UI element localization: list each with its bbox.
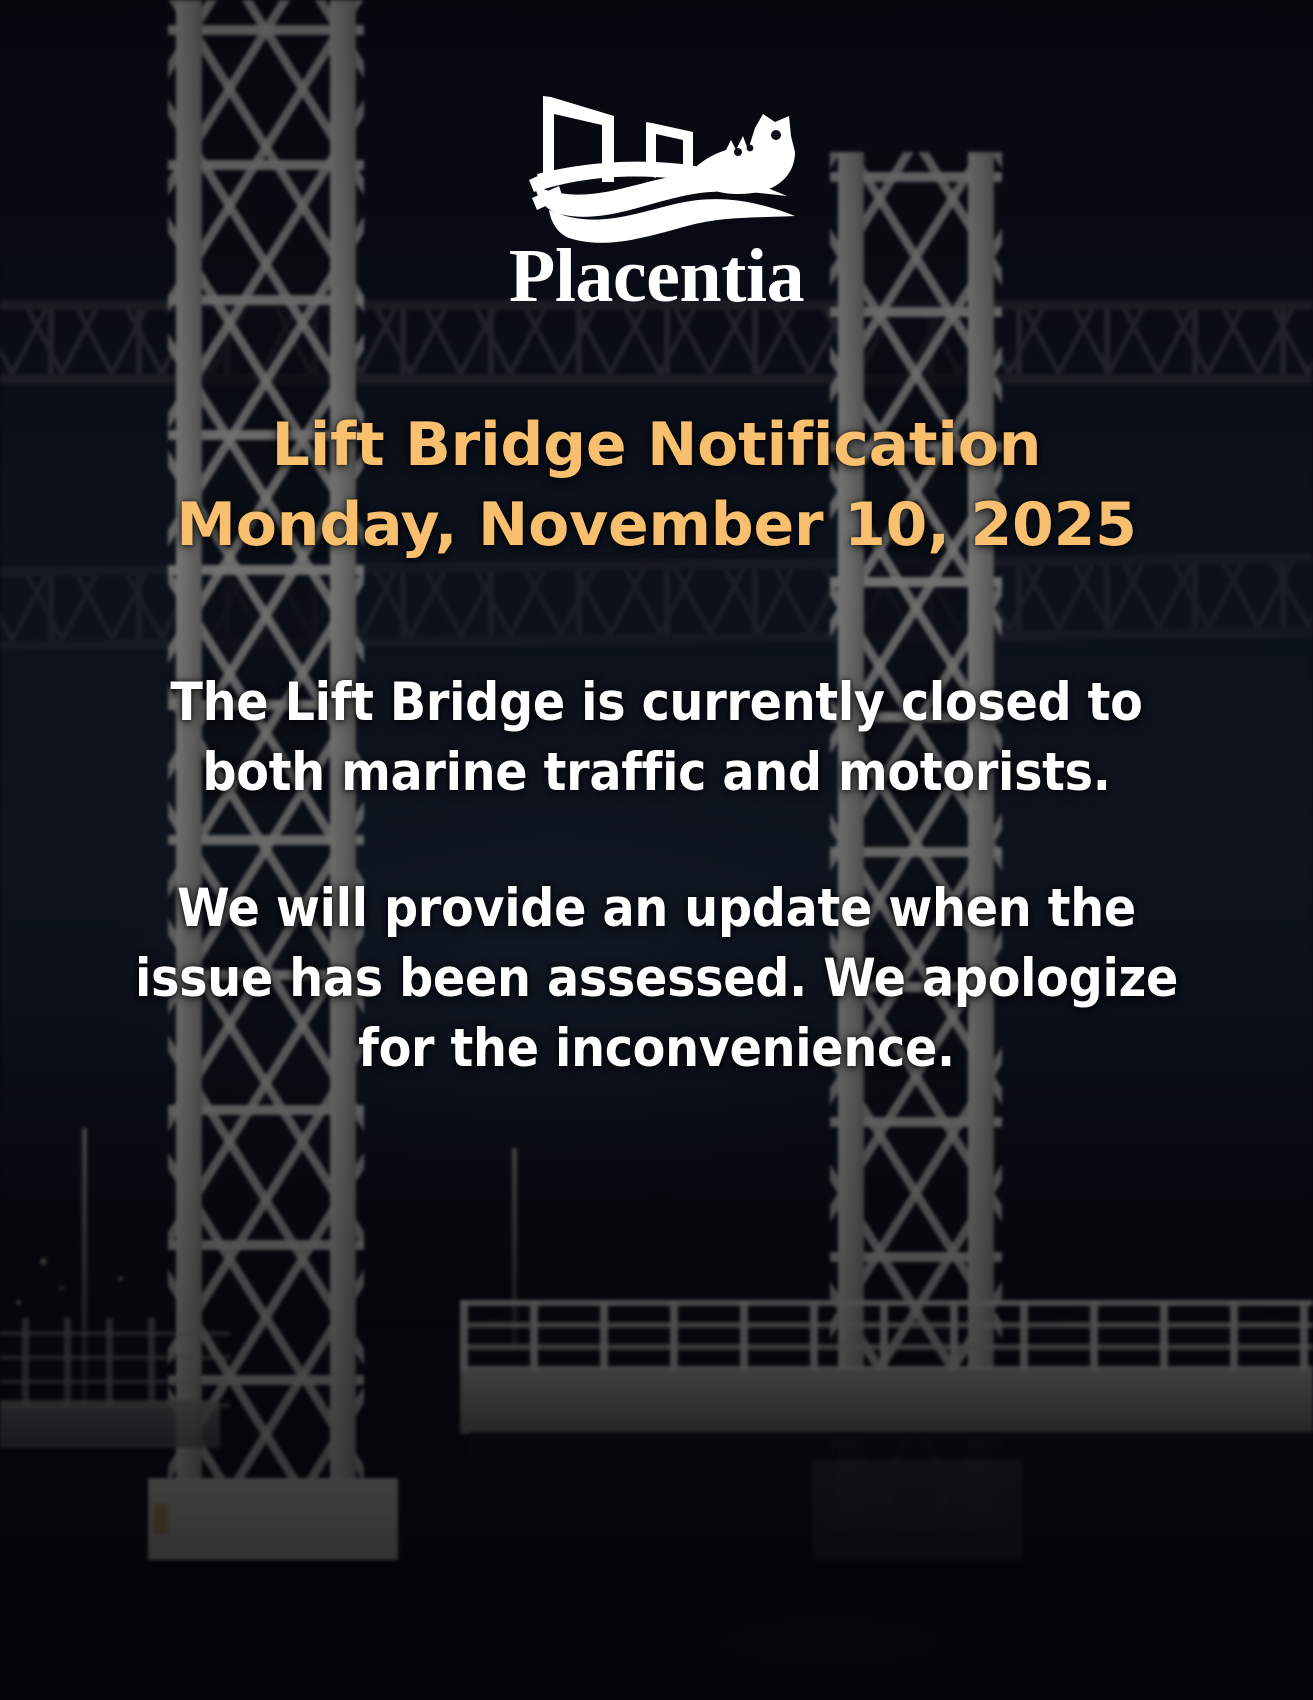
- brand-wordmark: Placentia: [509, 238, 804, 314]
- body-paragraph-2: We will provide an update when the issue…: [112, 874, 1202, 1084]
- notification-body: The Lift Bridge is currently closed to b…: [112, 668, 1202, 1084]
- body-paragraph-1: The Lift Bridge is currently closed to b…: [112, 668, 1202, 808]
- poster-content: Placentia Lift Bridge Notification Monda…: [0, 0, 1313, 1700]
- brand-logo: Placentia: [457, 78, 857, 314]
- placentia-bridge-boat-waves-logo-icon: [507, 78, 807, 246]
- headline-line-2: Monday, November 10, 2025: [127, 486, 1187, 566]
- headline-line-1: Lift Bridge Notification: [272, 410, 1042, 480]
- page-title: Lift Bridge Notification Monday, Novembe…: [127, 406, 1187, 566]
- notification-poster: Placentia Lift Bridge Notification Monda…: [0, 0, 1313, 1700]
